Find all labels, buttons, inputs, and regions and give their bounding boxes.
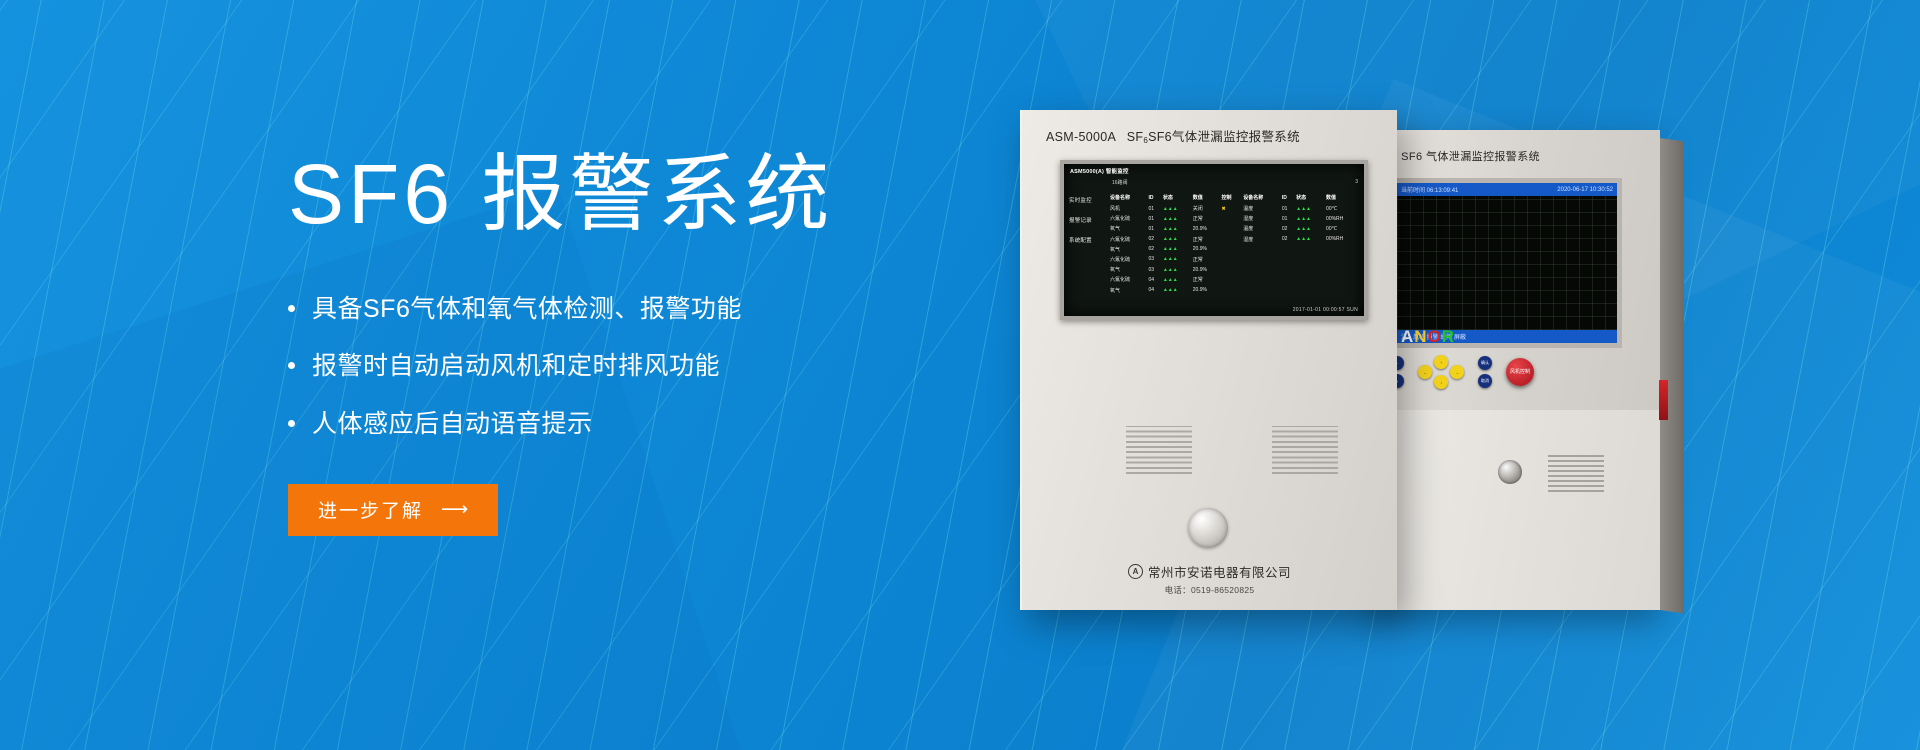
cancel-button[interactable]: 取消: [1478, 374, 1492, 388]
bullet-dot-icon: [288, 420, 295, 427]
cell-control: [1222, 225, 1244, 235]
list-item: 具备SF6气体和氧气体检测、报警功能: [288, 294, 1048, 325]
learn-more-label: 进一步了解: [318, 496, 423, 523]
cell-state: ▲▲▲: [1163, 205, 1193, 215]
cell-state: ▲▲▲: [1163, 236, 1193, 246]
col-state: 状态: [1163, 194, 1193, 205]
cell-control: [1222, 246, 1360, 256]
cell-name-r: 湿度: [1243, 215, 1282, 225]
cell-value: 正常: [1193, 215, 1222, 225]
bullet-dot-icon: [288, 362, 295, 369]
confirm-button[interactable]: 确认: [1478, 356, 1492, 370]
device-front-panel: ASM-5000A SF6SF6气体泄漏监控报警系统 ASM5000(A) 智能…: [1020, 110, 1397, 610]
cell-value: 20.9%: [1193, 287, 1222, 297]
device-back-keypad: − + ↑ ↓ ← → 确认 取消 风机控制: [1390, 352, 1618, 392]
device-back-red-strip: [1659, 380, 1668, 420]
device-front-title: ASM-5000A SF6SF6气体泄漏监控报警系统: [1046, 126, 1300, 145]
col-value-2: 数值: [1326, 194, 1360, 205]
device-back-sensor-icon: [1498, 460, 1522, 484]
device-front-lcd: ASM5000(A) 智能监控 16路阀 3 实时监控 报警记录 系统配置 设备…: [1060, 160, 1368, 320]
cell-name: 六氟化硫: [1110, 215, 1149, 225]
company-logo-icon: A: [1128, 564, 1143, 579]
cell-control: [1222, 266, 1360, 276]
cell-name: 风机: [1110, 205, 1149, 215]
screen-plot-area: [1397, 196, 1617, 330]
table-row: 风机 01 ▲▲▲ 关闭 ✖ 温度 01 ▲▲▲ 00℃: [1110, 205, 1360, 215]
cell-state-r: ▲▲▲: [1296, 215, 1326, 225]
device-back-panel: 0 B SF6 气体泄漏监控报警系统 当前时间 06:13:09:41 2020…: [1370, 130, 1660, 610]
cell-control: [1222, 287, 1360, 297]
learn-more-button[interactable]: 进一步了解 ⟶: [288, 484, 498, 536]
speaker-grille-left: [1126, 426, 1192, 474]
left-arrow-button[interactable]: ←: [1418, 365, 1432, 379]
page-title: SF6 报警系统: [288, 150, 1048, 238]
table-row: 氧气 02 ▲▲▲ 20.9%: [1110, 246, 1360, 256]
cell-value: 正常: [1193, 256, 1222, 266]
cell-id-r: 02: [1282, 236, 1296, 246]
lcd-nav-item-settings[interactable]: 系统配置: [1069, 236, 1109, 244]
lcd-data-table: 设备名称 ID 状态 数值 控制 设备名称 ID 状态 数值: [1110, 194, 1360, 297]
cell-id: 03: [1149, 256, 1163, 266]
cell-name: 六氟化硫: [1110, 256, 1149, 266]
device-back-lower: [1370, 410, 1660, 610]
cell-state: ▲▲▲: [1163, 266, 1193, 276]
table-row: 六氟化硫 02 ▲▲▲ 正常 湿度 02 ▲▲▲ 00%RH: [1110, 236, 1360, 246]
cell-value: 正常: [1193, 276, 1222, 286]
col-control: 控制: [1222, 194, 1244, 205]
cell-value: 关闭: [1193, 205, 1222, 215]
confirm-cancel-keys: 确认 取消: [1478, 356, 1492, 388]
feature-text: 具备SF6气体和氧气体检测、报警功能: [312, 295, 742, 323]
cell-name: 氧气: [1110, 266, 1149, 276]
cell-control: [1222, 276, 1360, 286]
hero-copy: SF6 报警系统 具备SF6气体和氧气体检测、报警功能 报警时自动启动风机和定时…: [288, 150, 1048, 536]
cell-name: 氧气: [1110, 225, 1149, 235]
speaker-grille-right: [1272, 426, 1338, 474]
monitor-table: 设备名称 ID 状态 数值 控制 设备名称 ID 状态 数值: [1110, 194, 1360, 297]
cell-control: [1222, 215, 1244, 225]
anor-brand-logo: ANOR: [1401, 330, 1455, 344]
list-item: 人体感应后自动语音提示: [288, 409, 1048, 440]
cell-id: 03: [1149, 266, 1163, 276]
cell-control[interactable]: ✖: [1222, 205, 1244, 215]
cell-name: 氧气: [1110, 246, 1149, 256]
lcd-nav-item-alarm-log[interactable]: 报警记录: [1069, 216, 1109, 224]
lcd-nav-menu: 实时监控 报警记录 系统配置: [1069, 196, 1109, 256]
table-header-row: 设备名称 ID 状态 数值 控制 设备名称 ID 状态 数值: [1110, 194, 1360, 205]
company-row: A 常州市安诺电器有限公司: [1022, 562, 1397, 581]
lcd-header: ASM5000(A) 智能监控: [1070, 167, 1129, 175]
table-row: 氧气 03 ▲▲▲ 20.9%: [1110, 266, 1360, 276]
device-front-branding: A 常州市安诺电器有限公司 电话：0519-86520825: [1022, 562, 1397, 596]
device-product-name: SF6气体泄漏监控报警系统: [1148, 130, 1300, 144]
col-name: 设备名称: [1110, 194, 1149, 205]
cell-id-r: 02: [1282, 225, 1296, 235]
col-name-2: 设备名称: [1243, 194, 1282, 205]
screen-time-left: 当前时间 06:13:09:41: [1401, 185, 1458, 194]
lcd-timestamp: 2017-01-01 00:00:57 SUN: [1293, 307, 1358, 313]
cell-id-r: 01: [1282, 215, 1296, 225]
cell-id: 02: [1149, 236, 1163, 246]
col-state-2: 状态: [1296, 194, 1326, 205]
cell-value-r: 00%RH: [1326, 236, 1360, 246]
company-name: 常州市安诺电器有限公司: [1148, 562, 1291, 581]
right-arrow-button[interactable]: →: [1450, 365, 1464, 379]
fan-control-button[interactable]: 风机控制: [1506, 358, 1534, 386]
col-id: ID: [1149, 194, 1163, 205]
cell-name: 氧气: [1110, 287, 1149, 297]
cell-state-r: ▲▲▲: [1296, 205, 1326, 215]
device-model: ASM-5000A: [1046, 130, 1115, 144]
cell-state: ▲▲▲: [1163, 246, 1193, 256]
cell-value: 20.9%: [1193, 266, 1222, 276]
cell-value-r: 00℃: [1326, 225, 1360, 235]
cell-value-r: 00℃: [1326, 205, 1360, 215]
cell-state: ▲▲▲: [1163, 276, 1193, 286]
screen-top-bar: 当前时间 06:13:09:41 2020-06-17 10:30:52: [1397, 183, 1617, 196]
lcd-header-text: ASM5000(A) 智能监控: [1070, 169, 1129, 175]
cell-id: 04: [1149, 287, 1163, 297]
table-row: 六氟化硫 04 ▲▲▲ 正常: [1110, 276, 1360, 286]
cell-state: ▲▲▲: [1163, 287, 1193, 297]
feature-text: 报警时自动启动风机和定时排风功能: [312, 352, 720, 380]
cell-id: 01: [1149, 225, 1163, 235]
table-row: 氧气 04 ▲▲▲ 20.9%: [1110, 287, 1360, 297]
lcd-page-number: 3: [1355, 179, 1358, 185]
feature-text: 人体感应后自动语音提示: [312, 410, 593, 438]
table-row: 六氟化硫 01 ▲▲▲ 正常 湿度 01 ▲▲▲ 00%RH: [1110, 215, 1360, 225]
cell-control: [1222, 256, 1360, 266]
cell-state-r: ▲▲▲: [1296, 236, 1326, 246]
down-arrow-button[interactable]: ↓: [1434, 375, 1448, 389]
monitor-table-body: 风机 01 ▲▲▲ 关闭 ✖ 温度 01 ▲▲▲ 00℃: [1110, 205, 1360, 297]
cell-id: 02: [1149, 246, 1163, 256]
table-row: 氧气 01 ▲▲▲ 20.9% 温度 02 ▲▲▲ 00℃: [1110, 225, 1360, 235]
arrow-right-icon: ⟶: [441, 500, 468, 519]
cell-value: 20.9%: [1193, 246, 1222, 256]
device-back-screen: 当前时间 06:13:09:41 2020-06-17 10:30:52 注：风…: [1392, 178, 1622, 348]
cell-value-r: 00%RH: [1326, 215, 1360, 225]
cell-id: 01: [1149, 205, 1163, 215]
dpad: ↑ ↓ ← →: [1418, 355, 1464, 389]
motion-sensor-icon: [1188, 508, 1228, 548]
table-row: 六氟化硫 03 ▲▲▲ 正常: [1110, 256, 1360, 266]
cell-state: ▲▲▲: [1163, 215, 1193, 225]
product-photo: 0 B SF6 气体泄漏监控报警系统 当前时间 06:13:09:41 2020…: [1020, 110, 1780, 650]
cell-id: 01: [1149, 215, 1163, 225]
cell-value: 20.9%: [1193, 225, 1222, 235]
cell-name-r: 温度: [1243, 205, 1282, 215]
col-id-2: ID: [1282, 194, 1296, 205]
hero-banner: SF6 报警系统 具备SF6气体和氧气体检测、报警功能 报警时自动启动风机和定时…: [0, 0, 1920, 750]
cell-control: [1222, 236, 1244, 246]
cell-name: 六氟化硫: [1110, 276, 1149, 286]
device-back-speaker-grille: [1548, 452, 1604, 492]
device-back-title: 0 B SF6 气体泄漏监控报警系统: [1380, 148, 1654, 164]
list-item: 报警时自动启动风机和定时排风功能: [288, 351, 1048, 382]
company-phone: 电话：0519-86520825: [1022, 584, 1397, 596]
device-back-side: [1660, 138, 1684, 613]
cell-id: 04: [1149, 276, 1163, 286]
screen-time-right: 2020-06-17 10:30:52: [1557, 187, 1613, 193]
bullet-dot-icon: [288, 305, 295, 312]
up-arrow-button[interactable]: ↑: [1434, 355, 1448, 369]
cell-name: 六氟化硫: [1110, 236, 1149, 246]
cell-id-r: 01: [1282, 205, 1296, 215]
feature-list: 具备SF6气体和氧气体检测、报警功能 报警时自动启动风机和定时排风功能 人体感应…: [288, 294, 1048, 440]
cell-value: 正常: [1193, 236, 1222, 246]
cell-state: ▲▲▲: [1163, 225, 1193, 235]
cell-state-r: ▲▲▲: [1296, 225, 1326, 235]
lcd-subheader: 16路阀: [1112, 179, 1128, 186]
col-value: 数值: [1193, 194, 1222, 205]
lcd-nav-item-realtime[interactable]: 实时监控: [1069, 196, 1109, 204]
cell-name-r: 湿度: [1243, 236, 1282, 246]
cell-name-r: 温度: [1243, 225, 1282, 235]
cell-state: ▲▲▲: [1163, 256, 1193, 266]
